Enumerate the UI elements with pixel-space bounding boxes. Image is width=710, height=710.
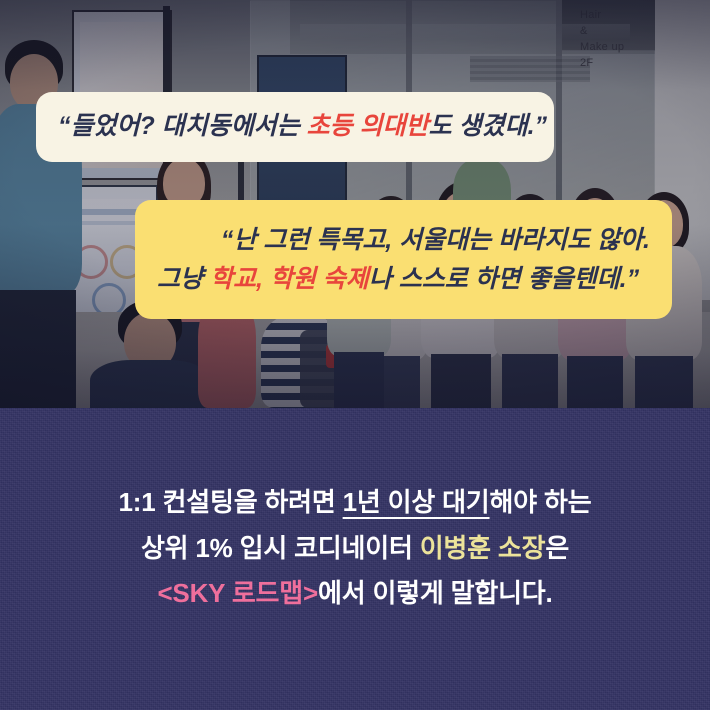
bottom-l1-seg-3: 해야 하는 — [490, 487, 592, 517]
bubble-1-seg-3: 도 생겼대.” — [429, 112, 547, 140]
bottom-caption: 1:1 컨설팅을 하려면 1년 이상 대기해야 하는 상위 1% 입시 코디네이… — [0, 480, 710, 617]
promo-card: Hair & Make up 2F — [0, 0, 710, 710]
bubble-1-seg-1: “들었어? 대치동에서는 — [58, 112, 307, 140]
bottom-line-2: 상위 1% 입시 코디네이터 이병훈 소장은 — [24, 526, 686, 572]
bottom-l1-seg-2-underline: 1년 이상 대기 — [343, 487, 490, 517]
speech-bubble-2: “난 그런 특목고, 서울대는 바라지도 않아. 그냥 학교, 학원 숙제나 스… — [135, 200, 672, 319]
bubble-2-seg-1: “난 그런 특목고, 서울대는 바라지도 않아. — [221, 226, 650, 254]
bubble-1-seg-2-highlight: 초등 의대반 — [307, 112, 429, 140]
bottom-l3-seg-2: 에서 이렇게 말합니다. — [318, 578, 553, 608]
bubble-2-seg-2: 그냥 — [157, 265, 210, 293]
bubble-2-seg-3-highlight: 학교, 학원 숙제 — [210, 265, 369, 293]
bottom-l2-seg-1: 상위 1% 입시 코디네이터 — [141, 533, 420, 563]
bottom-l2-seg-2-highlight: 이병훈 소장 — [420, 533, 546, 563]
bubble-1-line-1: “들었어? 대치동에서는 초등 의대반도 생겼대.” — [58, 113, 532, 141]
bottom-l2-seg-3: 은 — [545, 533, 569, 563]
bottom-l3-seg-1-highlight: <SKY 로드맵> — [157, 578, 318, 608]
bottom-line-3: <SKY 로드맵>에서 이렇게 말합니다. — [24, 571, 686, 617]
bottom-panel: 1:1 컨설팅을 하려면 1년 이상 대기해야 하는 상위 1% 입시 코디네이… — [0, 408, 710, 710]
speech-bubble-1: “들었어? 대치동에서는 초등 의대반도 생겼대.” — [36, 92, 554, 162]
bubble-2-line-2: 그냥 학교, 학원 숙제나 스스로 하면 좋을텐데.” — [157, 260, 650, 299]
bottom-l1-seg-1: 1:1 컨설팅을 하려면 — [119, 487, 343, 517]
bubble-2-seg-4: 나 스스로 하면 좋을텐데.” — [369, 265, 639, 293]
bubble-2-line-1: “난 그런 특목고, 서울대는 바라지도 않아. — [157, 221, 650, 260]
background-photo: Hair & Make up 2F — [0, 0, 710, 408]
bottom-line-1: 1:1 컨설팅을 하려면 1년 이상 대기해야 하는 — [24, 480, 686, 526]
